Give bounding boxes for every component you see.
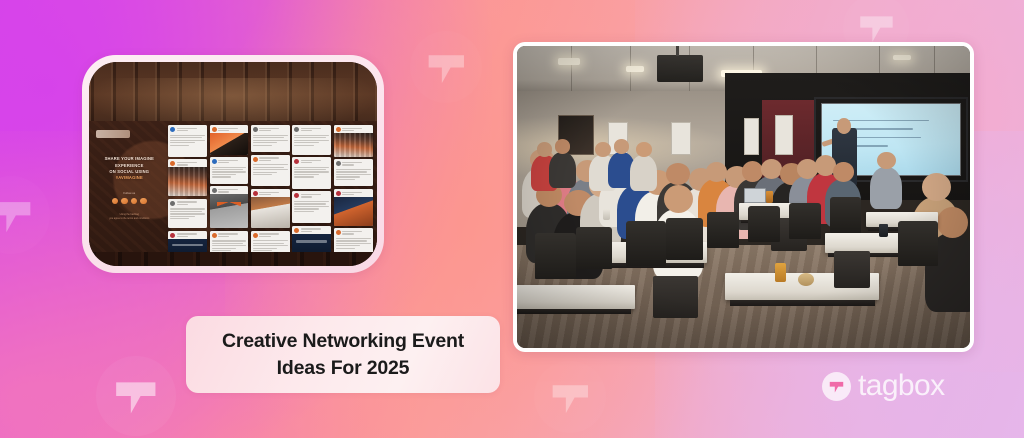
post-avatar	[294, 193, 299, 198]
social-post-card[interactable]	[292, 226, 331, 252]
post-avatar	[336, 161, 341, 166]
chair	[898, 221, 939, 266]
post-text	[292, 199, 331, 214]
drink-cup	[603, 209, 610, 220]
social-post-card[interactable]	[251, 125, 290, 152]
social-wall-column	[251, 125, 290, 248]
post-text	[210, 239, 249, 252]
twitter-icon	[121, 198, 128, 205]
backpack	[834, 251, 870, 287]
audience-member-head	[706, 162, 727, 181]
chair	[576, 227, 612, 269]
drink-cup	[879, 224, 888, 237]
post-avatar	[212, 159, 217, 164]
audience-member	[630, 155, 657, 191]
laptop	[744, 188, 767, 203]
post-avatar	[170, 161, 175, 166]
post-image	[210, 133, 249, 154]
watermark-top-center	[410, 31, 482, 103]
social-post-card[interactable]	[334, 189, 373, 226]
post-text	[251, 163, 290, 178]
page-title: Creative Networking Event Ideas For 2025	[222, 328, 464, 382]
post-image	[251, 197, 290, 228]
page-title-badge: Creative Networking Event Ideas For 2025	[186, 316, 500, 393]
snack-bowl	[798, 273, 814, 286]
social-post-card[interactable]	[251, 231, 290, 252]
post-image	[334, 197, 373, 226]
post-image	[210, 194, 249, 228]
post-image	[168, 167, 207, 196]
audience-member-head	[937, 207, 969, 238]
whiteboard	[744, 118, 760, 154]
social-post-card[interactable]	[292, 191, 331, 223]
audience-member	[549, 152, 576, 188]
chair	[789, 203, 821, 239]
drink-cup	[775, 263, 786, 281]
audience-member-head	[555, 139, 571, 153]
page-title-line-1: Creative Networking Event	[222, 330, 464, 352]
footnote-line-2: you agree to the terms and conditions	[109, 217, 149, 221]
page-title-line-2: Ideas For 2025	[277, 357, 410, 379]
audience-member-head	[614, 139, 630, 153]
social-wall-display-photo: SHARE YOUR IMAGINE EXPERIENCE ON SOCIAL …	[89, 62, 377, 266]
audience-member-head	[833, 162, 854, 181]
social-post-wall	[168, 125, 372, 248]
whiteboard	[775, 115, 793, 154]
post-text	[168, 133, 207, 148]
social-icon-row	[112, 198, 147, 205]
event-hashtag: #AVIMAGINE	[105, 175, 154, 181]
social-post-card[interactable]	[251, 189, 290, 228]
audience-member-head	[877, 152, 895, 169]
post-text	[334, 167, 373, 182]
post-avatar	[170, 127, 175, 132]
social-post-card[interactable]	[168, 231, 207, 252]
headline-line-1: SHARE YOUR IMAGINE	[105, 156, 154, 162]
audience-member-head	[922, 173, 951, 201]
chair	[830, 197, 862, 233]
post-avatar	[294, 159, 299, 164]
post-avatar	[212, 233, 217, 238]
social-post-card[interactable]	[334, 228, 373, 251]
watermark-bottom-center	[534, 361, 606, 433]
follow-us-label: Follow us	[123, 191, 135, 195]
watermark-bottom-left	[96, 356, 176, 436]
display-footnote: Using the hashtag you agree to the terms…	[105, 213, 153, 221]
networking-seminar-photo	[517, 46, 970, 348]
social-post-card[interactable]	[334, 159, 373, 186]
social-post-card[interactable]	[292, 157, 331, 189]
social-post-card[interactable]	[210, 125, 249, 154]
tagbox-logo: tagbox	[822, 371, 944, 401]
post-text	[292, 165, 331, 180]
social-post-card[interactable]	[210, 157, 249, 184]
tagbox-wordmark: tagbox	[858, 371, 944, 401]
attendee-table	[517, 285, 635, 309]
post-text	[292, 133, 331, 148]
post-avatar	[170, 233, 175, 238]
chair	[748, 206, 780, 242]
post-image	[334, 133, 373, 157]
social-wall-column	[334, 125, 373, 248]
linkedin-icon	[140, 198, 147, 205]
post-avatar	[336, 230, 341, 235]
audience-member-head	[636, 142, 652, 156]
audience-member-head	[761, 159, 782, 178]
post-avatar	[212, 188, 217, 193]
facebook-icon	[112, 198, 119, 205]
post-avatar	[253, 157, 258, 162]
post-text	[251, 239, 290, 252]
social-post-card[interactable]	[168, 199, 207, 228]
post-avatar	[253, 191, 258, 196]
post-text	[251, 133, 290, 148]
social-wall-column	[210, 125, 249, 248]
social-post-card[interactable]	[210, 231, 249, 252]
audience-member-head	[664, 185, 693, 213]
chair	[535, 233, 576, 278]
instagram-icon	[131, 198, 138, 205]
social-post-card[interactable]	[168, 159, 207, 196]
post-text	[334, 236, 373, 251]
ceiling-light	[626, 66, 644, 72]
social-post-card[interactable]	[210, 186, 249, 228]
post-image	[292, 234, 331, 252]
ceiling-light	[893, 55, 911, 60]
post-avatar	[294, 228, 299, 233]
networking-seminar-card	[513, 42, 974, 352]
post-avatar	[170, 201, 175, 206]
social-post-card[interactable]	[168, 125, 207, 157]
whiteboard	[671, 122, 691, 155]
post-avatar	[253, 233, 258, 238]
chair	[666, 218, 702, 260]
led-display-panel: SHARE YOUR IMAGINE EXPERIENCE ON SOCIAL …	[89, 121, 377, 252]
chair	[707, 212, 739, 248]
post-avatar	[253, 127, 258, 132]
social-post-card[interactable]	[334, 125, 373, 157]
audience-member-head	[537, 142, 553, 156]
social-post-card[interactable]	[292, 125, 331, 154]
social-wall-display-card: SHARE YOUR IMAGINE EXPERIENCE ON SOCIAL …	[82, 55, 384, 273]
drink-cup	[766, 191, 773, 203]
tagbox-tag-icon	[822, 372, 851, 401]
ceiling-projector	[657, 55, 702, 82]
post-avatar	[294, 127, 299, 132]
audience-member-head	[595, 142, 611, 156]
social-wall-column	[168, 125, 207, 248]
display-headline: SHARE YOUR IMAGINE EXPERIENCE ON SOCIAL …	[105, 156, 154, 181]
post-avatar	[336, 191, 341, 196]
backpack	[653, 276, 698, 318]
post-avatar	[336, 127, 341, 132]
post-text	[210, 165, 249, 180]
post-avatar	[212, 127, 217, 132]
display-sidebar: SHARE YOUR IMAGINE EXPERIENCE ON SOCIAL …	[93, 126, 165, 246]
social-wall-column	[292, 125, 331, 248]
chair	[626, 221, 667, 266]
ceiling-light	[558, 58, 581, 65]
post-text	[168, 207, 207, 222]
post-image	[168, 239, 207, 252]
event-logo-icon	[96, 130, 130, 138]
audience-member	[870, 167, 902, 209]
social-post-card[interactable]	[251, 155, 290, 187]
